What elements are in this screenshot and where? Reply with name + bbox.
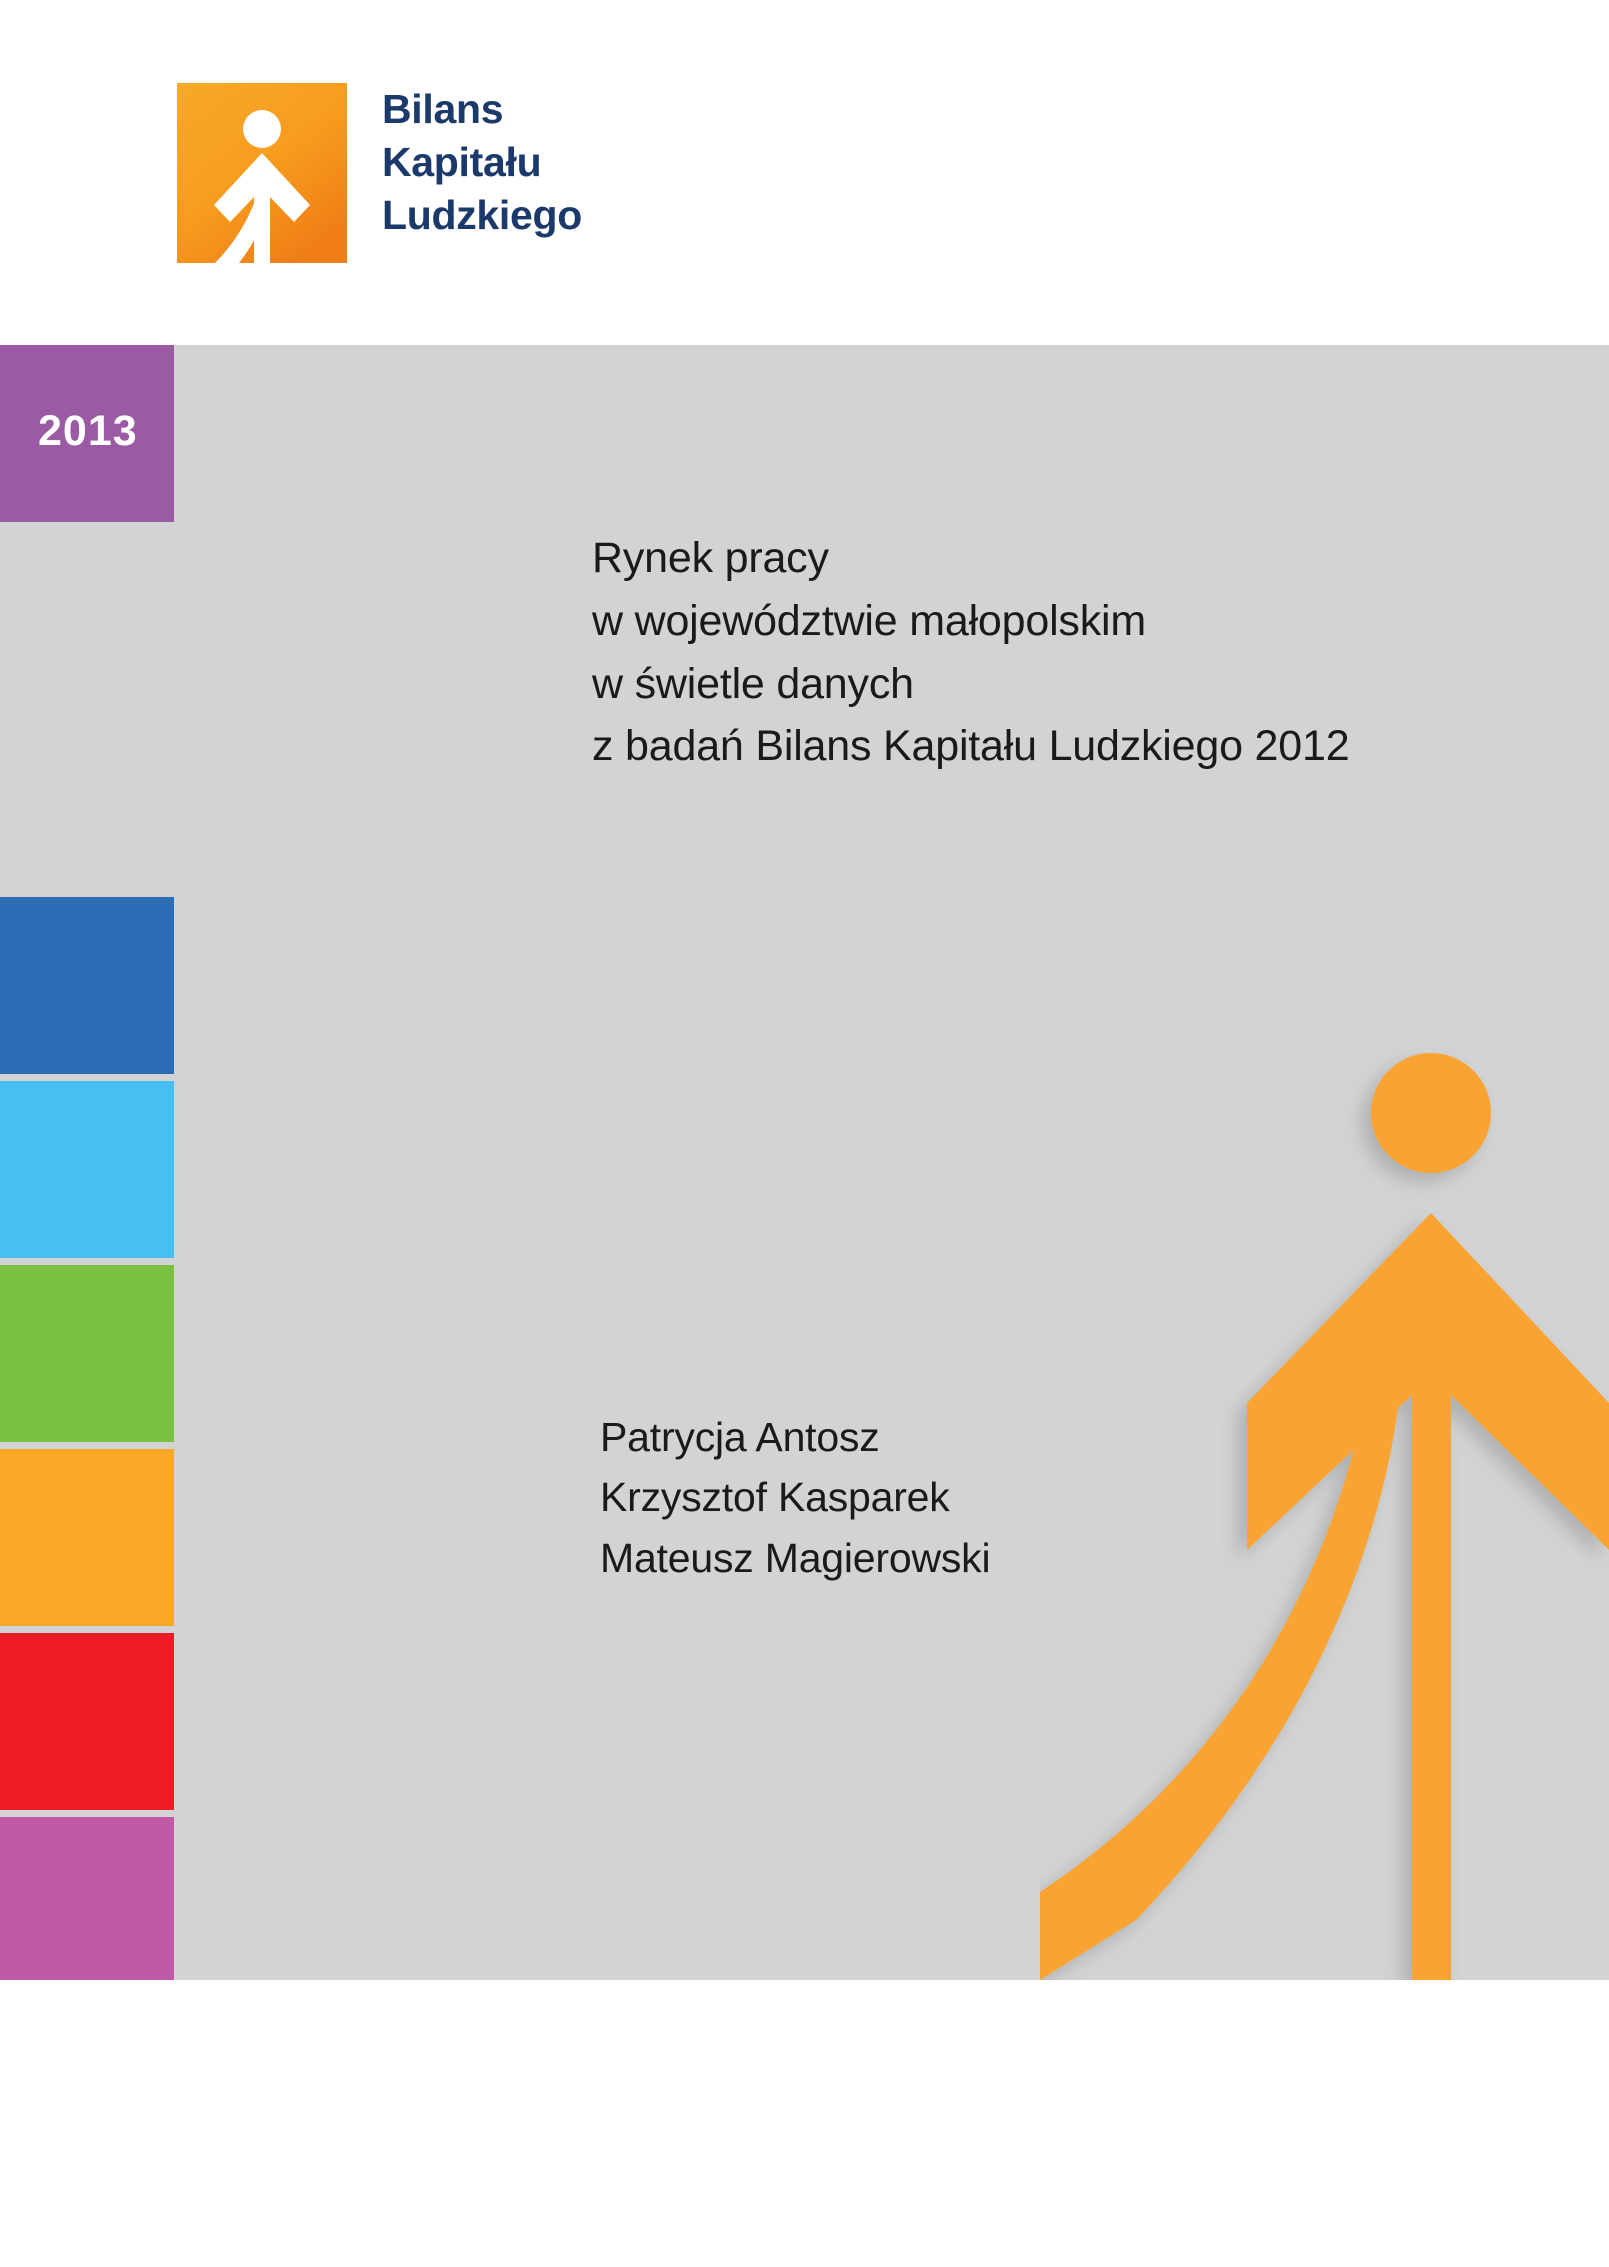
tile-grey-r3c1 [0,713,174,890]
title-line-2: w województwie małopolskim [592,590,1349,653]
author-2: Krzysztof Kasparek [600,1467,990,1527]
tile-grey-r8c2 [181,1633,355,1810]
tile-grey-r3c2 [181,713,355,890]
tile-grey-r8c3 [362,1633,536,1810]
tile-blue-light [0,1081,174,1258]
footer-logo-bar: KAPITAŁ LUDZKI NARODOWA STRATEGIA SPÓJNO… [0,2055,1609,2205]
tile-blue-dark [0,897,174,1074]
tile-magenta [0,1817,174,1980]
year-badge: 2013 [38,407,138,456]
tile-grey-r7c3 [362,1449,536,1626]
tile-grey-r2c3 [362,529,536,706]
brand-line-3: Ludzkiego [382,189,582,242]
author-1: Patrycja Antosz [600,1407,990,1467]
tile-green [0,1265,174,1442]
brand-line-2: Kapitału [382,136,582,189]
title-line-3: w świetle danych [592,653,1349,716]
tile-grey-r4c23 [181,897,536,1074]
tile-grey-r9c2 [181,1817,355,1980]
cover-page: Bilans Kapitału Ludzkiego 2013 Rynek pra… [0,0,1609,2267]
walking-person-arrow-icon [177,83,347,263]
orange-arrow-person-icon [1040,1020,1609,1980]
tile-grey-r1c3 [362,345,536,522]
tile-orange [0,1449,174,1626]
color-mosaic-grid [0,345,545,1980]
title-line-1: Rynek pracy [592,527,1349,590]
tile-grey-r6c23 [181,1265,536,1442]
tile-grey-r2c1 [0,529,174,706]
page-title: Rynek pracy w województwie małopolskim w… [592,527,1349,778]
tile-grey-r9c3 [362,1817,536,1980]
tile-grey-r1c2 [181,345,355,522]
tile-grey-r3c3 [362,713,536,890]
author-3: Mateusz Magierowski [600,1528,990,1588]
brand-line-1: Bilans [382,83,582,136]
tile-grey-r2c2 [181,529,355,706]
tile-grey-r7c2 [181,1449,355,1626]
authors-list: Patrycja Antosz Krzysztof Kasparek Mateu… [600,1407,990,1588]
brand-logo: Bilans Kapitału Ludzkiego [177,83,582,263]
tile-grey-r5c23 [181,1081,536,1258]
tile-red [0,1633,174,1810]
brand-wordmark: Bilans Kapitału Ludzkiego [382,83,582,242]
title-line-4: z badań Bilans Kapitału Ludzkiego 2012 [592,715,1349,778]
